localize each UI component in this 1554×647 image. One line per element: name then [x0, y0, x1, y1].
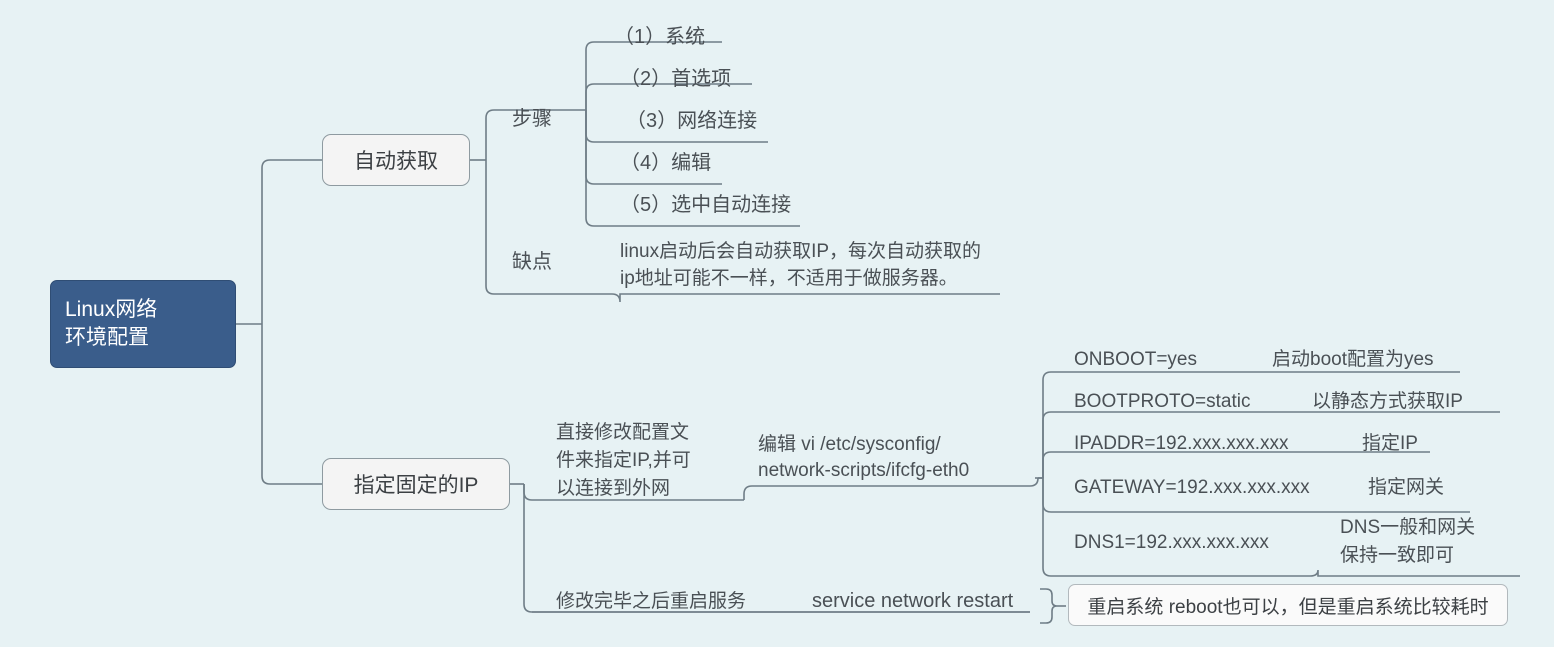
step-item-5[interactable]: （5）选中自动连接 [620, 193, 791, 219]
config-note-3: 指定IP [1362, 432, 1418, 456]
branch-node-auto[interactable]: 自动获取 [322, 134, 470, 186]
config-key-5[interactable]: DNS1=192.xxx.xxx.xxx [1074, 531, 1269, 555]
wire-drawback-underline [586, 294, 1000, 302]
reboot-note-text: 重启系统 reboot也可以，但是重启系统比较耗时 [1087, 592, 1488, 619]
root-title-line2: 环境配置 [65, 324, 149, 352]
drawback-text-line1: linux启动后会自动获取IP，每次自动获取的 [620, 240, 981, 264]
config-key-3[interactable]: IPADDR=192.xxx.xxx.xxx [1074, 432, 1289, 456]
config-note-1: 启动boot配置为yes [1272, 348, 1434, 372]
drawback-text-line2: ip地址可能不一样，不适用于做服务器。 [620, 267, 958, 291]
edit-command-line2[interactable]: network-scripts/ifcfg-eth0 [758, 459, 969, 483]
wire-root-to-static [262, 324, 322, 484]
config-note-2: 以静态方式获取IP [1312, 390, 1463, 414]
config-note-4: 指定网关 [1368, 476, 1444, 500]
reboot-note-box[interactable]: 重启系统 reboot也可以，但是重启系统比较耗时 [1068, 584, 1508, 626]
wire-brace [1040, 589, 1057, 623]
branch-label-auto: 自动获取 [354, 145, 438, 175]
root-node[interactable]: Linux网络 环境配置 [50, 280, 236, 368]
restart-service-label: 修改完毕之后重启服务 [556, 590, 746, 614]
step-item-4[interactable]: （4）编辑 [620, 151, 711, 177]
config-key-1[interactable]: ONBOOT=yes [1074, 348, 1197, 372]
edit-command-line1[interactable]: 编辑 vi /etc/sysconfig/ [758, 433, 941, 457]
wire-config-row-1 [1043, 372, 1460, 478]
static-desc-line2: 件来指定IP,并可 [556, 449, 691, 473]
branch-label-static: 指定固定的IP [354, 469, 479, 499]
root-title-line1: Linux网络 [65, 296, 157, 324]
config-note-5-line1: DNS一般和网关 [1340, 516, 1475, 540]
step-item-1[interactable]: （1）系统 [614, 25, 705, 51]
config-key-2[interactable]: BOOTPROTO=static [1074, 390, 1251, 414]
config-key-4[interactable]: GATEWAY=192.xxx.xxx.xxx [1074, 476, 1310, 500]
config-note-5-line2: 保持一致即可 [1340, 544, 1454, 568]
step-item-3[interactable]: （3）网络连接 [626, 109, 757, 135]
label-drawback: 缺点 [512, 250, 552, 276]
wire-root-to-auto [262, 160, 322, 324]
label-steps: 步骤 [512, 107, 552, 133]
step-item-2[interactable]: （2）首选项 [620, 67, 731, 93]
mindmap-canvas: Linux网络 环境配置 自动获取 指定固定的IP 步骤 缺点 （1）系统 （2… [0, 0, 1554, 647]
static-desc-line3: 以连接到外网 [556, 477, 670, 501]
restart-service-command[interactable]: service network restart [812, 589, 1013, 615]
static-desc-line1: 直接修改配置文 [556, 421, 689, 445]
branch-node-static[interactable]: 指定固定的IP [322, 458, 510, 510]
